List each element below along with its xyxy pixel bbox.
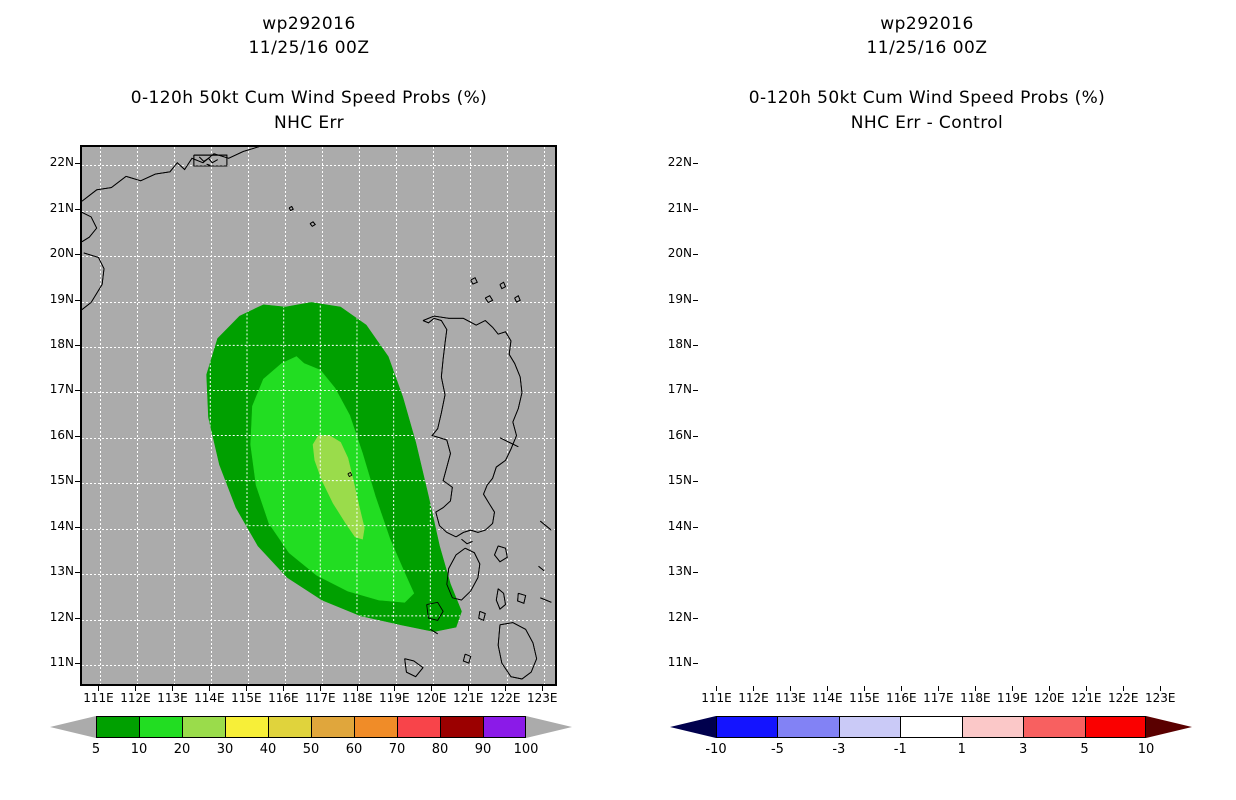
colorbar-tick-10: 10: [119, 742, 159, 757]
colorbar-tick-50: 50: [291, 742, 331, 757]
x-axis-label-123E: 123E: [522, 691, 562, 705]
x-tick-112E: [753, 686, 754, 691]
colorbar-under-arrow: [50, 716, 96, 738]
y-tick-17N: [75, 390, 80, 391]
y-axis-label-16N: 16N: [40, 428, 74, 442]
x-tick-119E: [394, 686, 395, 691]
y-tick-13N: [693, 572, 698, 573]
y-tick-19N: [75, 300, 80, 301]
probability-contours: [82, 147, 555, 683]
map-plot-left: [80, 145, 557, 686]
y-axis-label-18N: 18N: [658, 337, 692, 351]
colorbar-swatch-2: [182, 716, 225, 738]
colorbar-tick--1: -1: [880, 742, 920, 757]
colorbar-swatch-3: [900, 716, 961, 738]
y-axis-label-20N: 20N: [40, 246, 74, 260]
y-axis-label-14N: 14N: [658, 519, 692, 533]
colorbar-tick-3: 3: [1003, 742, 1043, 757]
y-tick-21N: [693, 209, 698, 210]
x-axis-label-113E: 113E: [152, 691, 192, 705]
x-axis-label-122E: 122E: [485, 691, 525, 705]
colorbar-under-arrow: [670, 716, 716, 738]
datetime-left: 11/25/16 00Z: [0, 38, 618, 58]
colorbar-tick--10: -10: [696, 742, 736, 757]
y-axis-label-17N: 17N: [658, 382, 692, 396]
x-tick-118E: [975, 686, 976, 691]
colorbar-tick-20: 20: [162, 742, 202, 757]
y-tick-12N: [693, 618, 698, 619]
colorbar-swatch-4: [962, 716, 1023, 738]
colorbar-tick-40: 40: [248, 742, 288, 757]
colorbar-swatch-6: [354, 716, 397, 738]
colorbar-swatches: [96, 716, 526, 738]
y-tick-11N: [75, 663, 80, 664]
x-axis-label-123E: 123E: [1140, 691, 1180, 705]
x-axis-label-119E: 119E: [992, 691, 1032, 705]
colorbar-over-arrow: [526, 716, 572, 738]
x-axis-label-115E: 115E: [844, 691, 884, 705]
y-axis-label-14N: 14N: [40, 519, 74, 533]
colorbar-swatches: [716, 716, 1146, 738]
colorbar-over-arrow: [1146, 716, 1192, 738]
colorbar-swatch-4: [268, 716, 311, 738]
chart-title-right: 0-120h 50kt Cum Wind Speed Probs (%): [618, 88, 1236, 108]
colorbar-swatch-3: [225, 716, 268, 738]
x-axis-label-111E: 111E: [696, 691, 736, 705]
colorbar-swatch-9: [483, 716, 526, 738]
y-axis-label-13N: 13N: [40, 564, 74, 578]
x-tick-121E: [468, 686, 469, 691]
colorbar-swatch-1: [139, 716, 182, 738]
y-tick-15N: [75, 481, 80, 482]
x-tick-122E: [505, 686, 506, 691]
y-axis-label-12N: 12N: [658, 610, 692, 624]
y-axis-label-22N: 22N: [658, 155, 692, 169]
y-axis-label-15N: 15N: [658, 473, 692, 487]
x-tick-120E: [431, 686, 432, 691]
y-axis-label-15N: 15N: [40, 473, 74, 487]
panel-nhc-err-control: wp292016 11/25/16 00Z 0-120h 50kt Cum Wi…: [618, 0, 1236, 800]
colorbar-tick-80: 80: [420, 742, 460, 757]
colorbar-tick--5: -5: [757, 742, 797, 757]
y-axis-label-17N: 17N: [40, 382, 74, 396]
y-axis-label-19N: 19N: [40, 292, 74, 306]
x-tick-111E: [98, 686, 99, 691]
y-tick-13N: [75, 572, 80, 573]
colorbar-swatch-7: [397, 716, 440, 738]
x-tick-113E: [790, 686, 791, 691]
y-axis-label-20N: 20N: [658, 246, 692, 260]
y-tick-22N: [75, 163, 80, 164]
colorbar-swatch-2: [839, 716, 900, 738]
x-tick-121E: [1086, 686, 1087, 691]
x-tick-114E: [827, 686, 828, 691]
x-axis-label-114E: 114E: [807, 691, 847, 705]
colorbar-tick-70: 70: [377, 742, 417, 757]
x-axis-label-112E: 112E: [115, 691, 155, 705]
x-tick-117E: [320, 686, 321, 691]
chart-subtitle-right: NHC Err - Control: [618, 113, 1236, 133]
x-tick-115E: [246, 686, 247, 691]
x-axis-label-116E: 116E: [263, 691, 303, 705]
x-tick-118E: [357, 686, 358, 691]
x-axis-label-121E: 121E: [448, 691, 488, 705]
colorbar-tick--3: -3: [819, 742, 859, 757]
y-tick-11N: [693, 663, 698, 664]
y-tick-21N: [75, 209, 80, 210]
x-axis-label-117E: 117E: [300, 691, 340, 705]
x-axis-label-118E: 118E: [337, 691, 377, 705]
colorbar-probability: 5102030405060708090100: [40, 712, 580, 772]
y-axis-label-21N: 21N: [658, 201, 692, 215]
x-tick-120E: [1049, 686, 1050, 691]
x-tick-119E: [1012, 686, 1013, 691]
x-tick-122E: [1123, 686, 1124, 691]
x-axis-label-119E: 119E: [374, 691, 414, 705]
x-axis-label-116E: 116E: [881, 691, 921, 705]
storm-id-left: wp292016: [0, 14, 618, 34]
colorbar-swatch-1: [777, 716, 838, 738]
y-axis-label-18N: 18N: [40, 337, 74, 351]
colorbar-swatch-5: [1023, 716, 1084, 738]
y-axis-label-22N: 22N: [40, 155, 74, 169]
x-axis-label-122E: 122E: [1103, 691, 1143, 705]
y-tick-18N: [75, 345, 80, 346]
x-tick-111E: [716, 686, 717, 691]
y-axis-label-11N: 11N: [658, 655, 692, 669]
colorbar-tick-60: 60: [334, 742, 374, 757]
y-tick-12N: [75, 618, 80, 619]
y-tick-15N: [693, 481, 698, 482]
x-tick-115E: [864, 686, 865, 691]
colorbar-swatch-6: [1085, 716, 1146, 738]
colorbar-tick-1: 1: [942, 742, 982, 757]
x-axis-label-121E: 121E: [1066, 691, 1106, 705]
x-tick-123E: [542, 686, 543, 691]
x-tick-113E: [172, 686, 173, 691]
y-axis-label-16N: 16N: [658, 428, 692, 442]
colorbar-swatch-8: [440, 716, 483, 738]
y-tick-16N: [75, 436, 80, 437]
x-axis-label-113E: 113E: [770, 691, 810, 705]
x-axis-label-120E: 120E: [1029, 691, 1069, 705]
y-tick-18N: [693, 345, 698, 346]
colorbar-swatch-0: [716, 716, 777, 738]
colorbar-swatch-0: [96, 716, 139, 738]
colorbar-tick-100: 100: [506, 742, 546, 757]
x-axis-label-112E: 112E: [733, 691, 773, 705]
x-tick-112E: [135, 686, 136, 691]
x-tick-114E: [209, 686, 210, 691]
colorbar-swatch-5: [311, 716, 354, 738]
y-tick-19N: [693, 300, 698, 301]
colorbar-difference: -10-5-3-113510: [660, 712, 1200, 772]
y-tick-17N: [693, 390, 698, 391]
colorbar-tick-30: 30: [205, 742, 245, 757]
datetime-right: 11/25/16 00Z: [618, 38, 1236, 58]
colorbar-tick-90: 90: [463, 742, 503, 757]
x-tick-116E: [283, 686, 284, 691]
chart-title-left: 0-120h 50kt Cum Wind Speed Probs (%): [0, 88, 618, 108]
x-tick-123E: [1160, 686, 1161, 691]
colorbar-tick-10: 10: [1126, 742, 1166, 757]
y-tick-20N: [75, 254, 80, 255]
y-axis-label-19N: 19N: [658, 292, 692, 306]
y-tick-14N: [75, 527, 80, 528]
chart-subtitle-left: NHC Err: [0, 113, 618, 133]
y-tick-22N: [693, 163, 698, 164]
x-axis-label-118E: 118E: [955, 691, 995, 705]
y-tick-20N: [693, 254, 698, 255]
x-axis-label-111E: 111E: [78, 691, 118, 705]
colorbar-tick-5: 5: [1065, 742, 1105, 757]
x-tick-116E: [901, 686, 902, 691]
x-axis-label-115E: 115E: [226, 691, 266, 705]
x-axis-label-120E: 120E: [411, 691, 451, 705]
y-axis-label-21N: 21N: [40, 201, 74, 215]
storm-id-right: wp292016: [618, 14, 1236, 34]
y-axis-label-13N: 13N: [658, 564, 692, 578]
y-tick-16N: [693, 436, 698, 437]
x-axis-label-117E: 117E: [918, 691, 958, 705]
x-axis-label-114E: 114E: [189, 691, 229, 705]
panel-nhc-err: wp292016 11/25/16 00Z 0-120h 50kt Cum Wi…: [0, 0, 618, 800]
y-axis-label-11N: 11N: [40, 655, 74, 669]
y-tick-14N: [693, 527, 698, 528]
colorbar-tick-5: 5: [76, 742, 116, 757]
x-tick-117E: [938, 686, 939, 691]
y-axis-label-12N: 12N: [40, 610, 74, 624]
